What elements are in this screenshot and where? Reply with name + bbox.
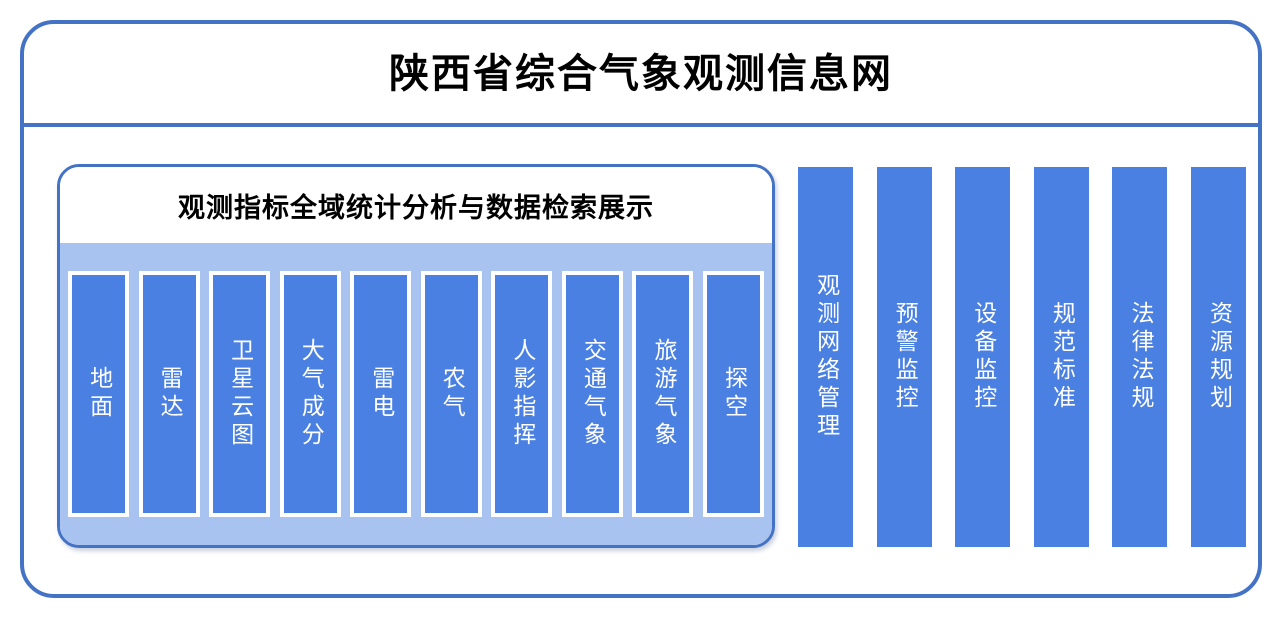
tile-label: 探空	[721, 366, 745, 422]
analysis-panel: 观测指标全域统计分析与数据检索展示 地面 雷达 卫星云图 大气成分 雷电 农气 …	[57, 164, 775, 548]
column-warning-monitoring[interactable]: 预警监控	[877, 167, 932, 547]
diagram-canvas: 陕西省综合气象观测信息网 观测指标全域统计分析与数据检索展示 地面 雷达 卫星云…	[0, 0, 1285, 618]
tile-label: 地面	[86, 366, 110, 422]
column-resource-planning[interactable]: 资源规划	[1191, 167, 1246, 547]
column-equipment-monitoring[interactable]: 设备监控	[955, 167, 1010, 547]
page-title: 陕西省综合气象观测信息网	[389, 54, 893, 94]
tile-atmospheric-composition[interactable]: 大气成分	[280, 271, 341, 517]
tile-label: 大气成分	[298, 338, 322, 450]
column-specification-standards[interactable]: 规范标准	[1034, 167, 1089, 547]
tile-radar[interactable]: 雷达	[139, 271, 200, 517]
tile-sounding[interactable]: 探空	[703, 271, 764, 517]
column-label: 规范标准	[1049, 301, 1073, 413]
tile-label: 雷电	[369, 366, 393, 422]
column-label: 预警监控	[892, 301, 916, 413]
tile-weather-modification-command[interactable]: 人影指挥	[491, 271, 552, 517]
tile-label: 交通气象	[580, 338, 604, 450]
column-label: 设备监控	[971, 301, 995, 413]
tile-label: 旅游气象	[651, 338, 675, 450]
column-laws-and-regulations[interactable]: 法律法规	[1112, 167, 1167, 547]
tile-tourism-meteorology[interactable]: 旅游气象	[632, 271, 693, 517]
column-label: 法律法规	[1128, 301, 1152, 413]
analysis-panel-title: 观测指标全域统计分析与数据检索展示	[178, 186, 654, 225]
tile-lightning[interactable]: 雷电	[350, 271, 411, 517]
right-column-group: 观测网络管理 预警监控 设备监控 规范标准 法律法规 资源规划	[798, 167, 1246, 547]
tile-agrometeorology[interactable]: 农气	[421, 271, 482, 517]
tile-label: 雷达	[157, 366, 181, 422]
analysis-panel-header: 观测指标全域统计分析与数据检索展示	[60, 167, 772, 243]
analysis-panel-body: 地面 雷达 卫星云图 大气成分 雷电 农气 人影指挥 交通气象 旅游气象 探空	[60, 243, 772, 545]
tile-satellite-cloud-image[interactable]: 卫星云图	[209, 271, 270, 517]
tile-ground[interactable]: 地面	[68, 271, 129, 517]
title-divider	[22, 123, 1260, 127]
tile-traffic-meteorology[interactable]: 交通气象	[562, 271, 623, 517]
title-band: 陕西省综合气象观测信息网	[24, 24, 1258, 124]
column-observation-network-management[interactable]: 观测网络管理	[798, 167, 853, 547]
column-label: 观测网络管理	[813, 273, 837, 441]
tile-label: 卫星云图	[228, 338, 252, 450]
tile-label: 人影指挥	[510, 338, 534, 450]
tile-label: 农气	[439, 366, 463, 422]
column-label: 资源规划	[1206, 301, 1230, 413]
